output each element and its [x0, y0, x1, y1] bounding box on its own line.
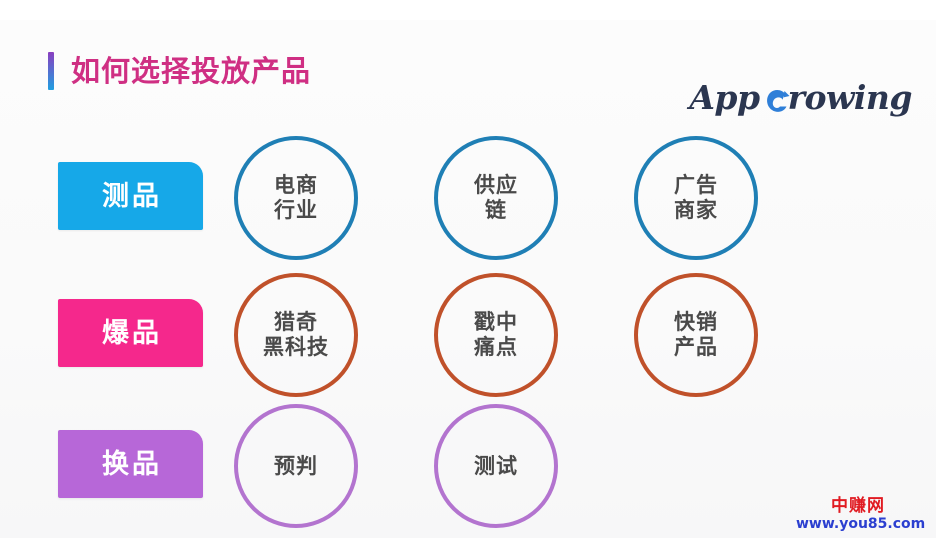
watermark: 中赚网 www.you85.com	[796, 498, 920, 532]
watermark-brand: 中赚网	[796, 498, 920, 516]
node-label: 预判	[274, 454, 318, 479]
node-label: 猎奇 黑科技	[263, 310, 329, 360]
node-label: 广告 商家	[674, 173, 718, 223]
node-label: 供应 链	[474, 173, 518, 223]
category-badge-label: 测品	[99, 183, 162, 210]
node-circle-test[interactable]: 测试	[434, 404, 558, 528]
category-badge-baopin[interactable]: 爆品	[58, 299, 203, 367]
category-badge-label: 爆品	[99, 320, 162, 347]
slide-canvas: 如何选择投放产品 App rowing 测品 电商 行业 供应 链 广告 商家	[0, 0, 936, 538]
logo-text-growing: rowing	[788, 78, 912, 117]
node-circle-forecast[interactable]: 预判	[234, 404, 358, 528]
logo-text-app: App	[689, 78, 759, 117]
node-circle-novelty-tech[interactable]: 猎奇 黑科技	[234, 273, 358, 397]
slide-header: 如何选择投放产品 App rowing	[0, 38, 936, 104]
category-badge-huanpin[interactable]: 换品	[58, 430, 203, 498]
node-circle-ad-merchant[interactable]: 广告 商家	[634, 136, 758, 260]
node-circle-ecommerce[interactable]: 电商 行业	[234, 136, 358, 260]
title-accent-bar	[48, 52, 54, 90]
node-label: 戳中 痛点	[474, 310, 518, 360]
row-ceping: 测品 电商 行业 供应 链 广告 商家	[0, 140, 936, 270]
g-swoosh-icon	[764, 87, 790, 117]
title-text: 如何选择投放产品	[71, 57, 311, 86]
category-badge-ceping[interactable]: 测品	[58, 162, 203, 230]
node-label: 电商 行业	[274, 173, 318, 223]
watermark-url: www.you85.com	[796, 517, 920, 532]
node-label: 测试	[474, 454, 518, 479]
node-label: 快销 产品	[674, 310, 718, 360]
node-circle-supply-chain[interactable]: 供应 链	[434, 136, 558, 260]
row-baopin: 爆品 猎奇 黑科技 戳中 痛点 快销 产品	[0, 277, 936, 407]
node-circle-pain-point[interactable]: 戳中 痛点	[434, 273, 558, 397]
category-badge-label: 换品	[99, 451, 162, 478]
app-growing-logo: App rowing	[689, 78, 912, 122]
page-title: 如何选择投放产品	[48, 38, 311, 104]
node-circle-fast-selling[interactable]: 快销 产品	[634, 273, 758, 397]
